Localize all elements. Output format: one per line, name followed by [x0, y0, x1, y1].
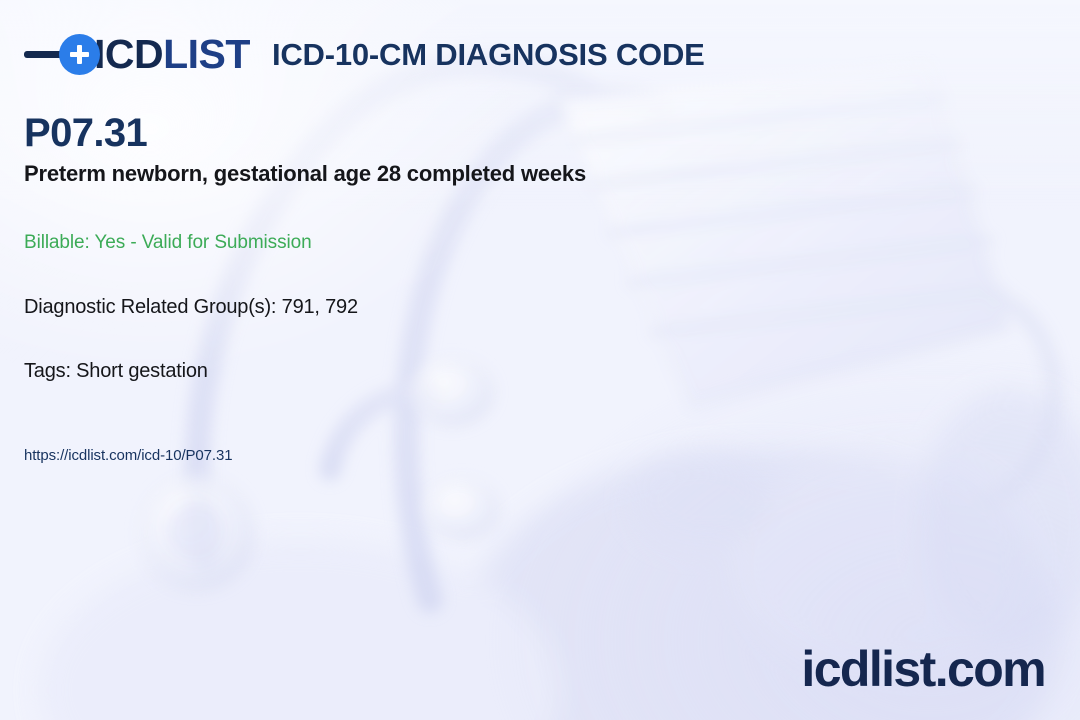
tags-line: Tags: Short gestation	[24, 360, 1056, 383]
plus-circle-icon	[59, 34, 100, 75]
diagnosis-code: P07.31	[24, 112, 1056, 155]
logo-word-list: LIST	[163, 31, 250, 77]
source-url[interactable]: https://icdlist.com/icd-10/P07.31	[24, 447, 1056, 464]
diagnosis-description: Preterm newborn, gestational age 28 comp…	[24, 161, 1056, 187]
code-details: P07.31 Preterm newborn, gestational age …	[24, 112, 1056, 464]
page-title: ICD-10-CM DIAGNOSIS CODE	[272, 39, 705, 70]
diagnostic-related-groups: Diagnostic Related Group(s): 791, 792	[24, 296, 1056, 319]
logo-wordmark: ICDLIST	[94, 34, 250, 75]
icdlist-logo[interactable]: ICDLIST	[24, 31, 250, 77]
footer-brand: icdlist.com	[801, 644, 1045, 694]
header: ICDLIST ICD-10-CM DIAGNOSIS CODE	[24, 26, 1056, 82]
icd-code-card: ICDLIST ICD-10-CM DIAGNOSIS CODE P07.31 …	[0, 0, 1080, 720]
logo-word-icd: ICD	[94, 31, 163, 77]
billable-status: Billable: Yes - Valid for Submission	[24, 232, 1056, 254]
